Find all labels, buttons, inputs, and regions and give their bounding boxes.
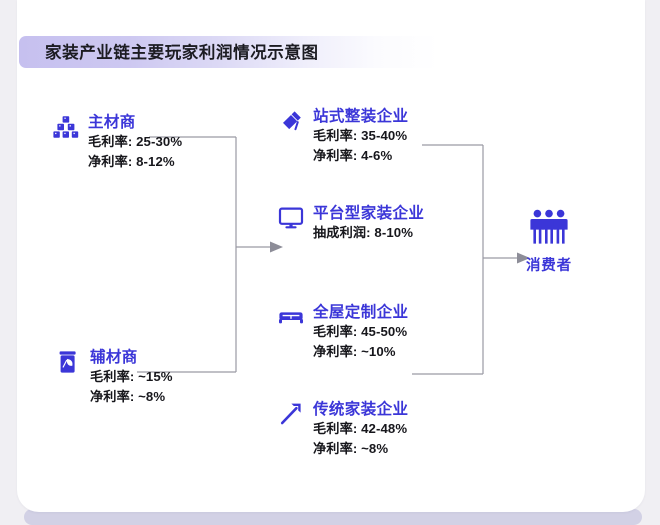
- node-metric: 毛利率: 25-30%: [88, 132, 182, 152]
- node-metric: 净利率: ~8%: [90, 387, 173, 407]
- node-label: 传统家装企业: [313, 400, 408, 419]
- node-metric: 净利率: ~8%: [313, 439, 408, 459]
- node-metric: 毛利率: 45-50%: [313, 322, 408, 342]
- node-whole-house-customization-enterprise[interactable]: 全屋定制企业 毛利率: 45-50% 净利率: ~10%: [278, 303, 408, 362]
- node-consumer[interactable]: 消费者: [526, 208, 572, 275]
- node-text: 全屋定制企业 毛利率: 45-50% 净利率: ~10%: [313, 303, 408, 362]
- three-people-icon: [529, 208, 569, 246]
- node-metric: 净利率: ~10%: [313, 342, 408, 362]
- arrowhead-to-players: [270, 242, 283, 253]
- diagram-canvas: 主材商 毛利率: 25-30% 净利率: 8-12% 辅材商 毛利率: ~15%: [17, 0, 645, 512]
- node-one-stop-renovation-enterprise[interactable]: 站式整装企业 毛利率: 35-40% 净利率: 4-6%: [278, 107, 408, 166]
- node-auxiliary-material-supplier[interactable]: 辅材商 毛利率: ~15% 净利率: ~8%: [55, 348, 173, 407]
- node-label: 站式整装企业: [313, 107, 408, 126]
- diagram-card: 家装产业链主要玩家利润情况示意图: [17, 0, 645, 512]
- node-label: 全屋定制企业: [313, 303, 408, 322]
- node-text: 主材商 毛利率: 25-30% 净利率: 8-12%: [88, 113, 182, 172]
- sofa-icon: [278, 304, 304, 330]
- node-text: 平台型家装企业 抽成利润: 8-10%: [313, 204, 424, 243]
- diagram-frame: 家装产业链主要玩家利润情况示意图: [0, 0, 660, 525]
- node-metric: 毛利率: 42-48%: [313, 419, 408, 439]
- stacked-boxes-icon: [53, 114, 79, 140]
- node-metric: 毛利率: 35-40%: [313, 126, 408, 146]
- node-metric: 毛利率: ~15%: [90, 367, 173, 387]
- node-text: 传统家装企业 毛利率: 42-48% 净利率: ~8%: [313, 400, 408, 459]
- node-main-material-supplier[interactable]: 主材商 毛利率: 25-30% 净利率: 8-12%: [53, 113, 182, 172]
- node-label: 辅材商: [90, 348, 173, 367]
- node-label: 消费者: [526, 254, 572, 275]
- paint-can-icon: [55, 349, 81, 375]
- node-text: 辅材商 毛利率: ~15% 净利率: ~8%: [90, 348, 173, 407]
- monitor-icon: [278, 205, 304, 231]
- node-metric: 净利率: 4-6%: [313, 146, 408, 166]
- node-text: 站式整装企业 毛利率: 35-40% 净利率: 4-6%: [313, 107, 408, 166]
- node-label: 平台型家装企业: [313, 204, 424, 223]
- node-platform-home-decoration-enterprise[interactable]: 平台型家装企业 抽成利润: 8-10%: [278, 204, 424, 243]
- node-metric: 抽成利润: 8-10%: [313, 223, 424, 243]
- node-label: 主材商: [88, 113, 182, 132]
- node-metric: 净利率: 8-12%: [88, 152, 182, 172]
- hammer-icon: [278, 401, 304, 427]
- paint-brush-icon: [278, 108, 304, 134]
- node-traditional-home-decoration-enterprise[interactable]: 传统家装企业 毛利率: 42-48% 净利率: ~8%: [278, 400, 408, 459]
